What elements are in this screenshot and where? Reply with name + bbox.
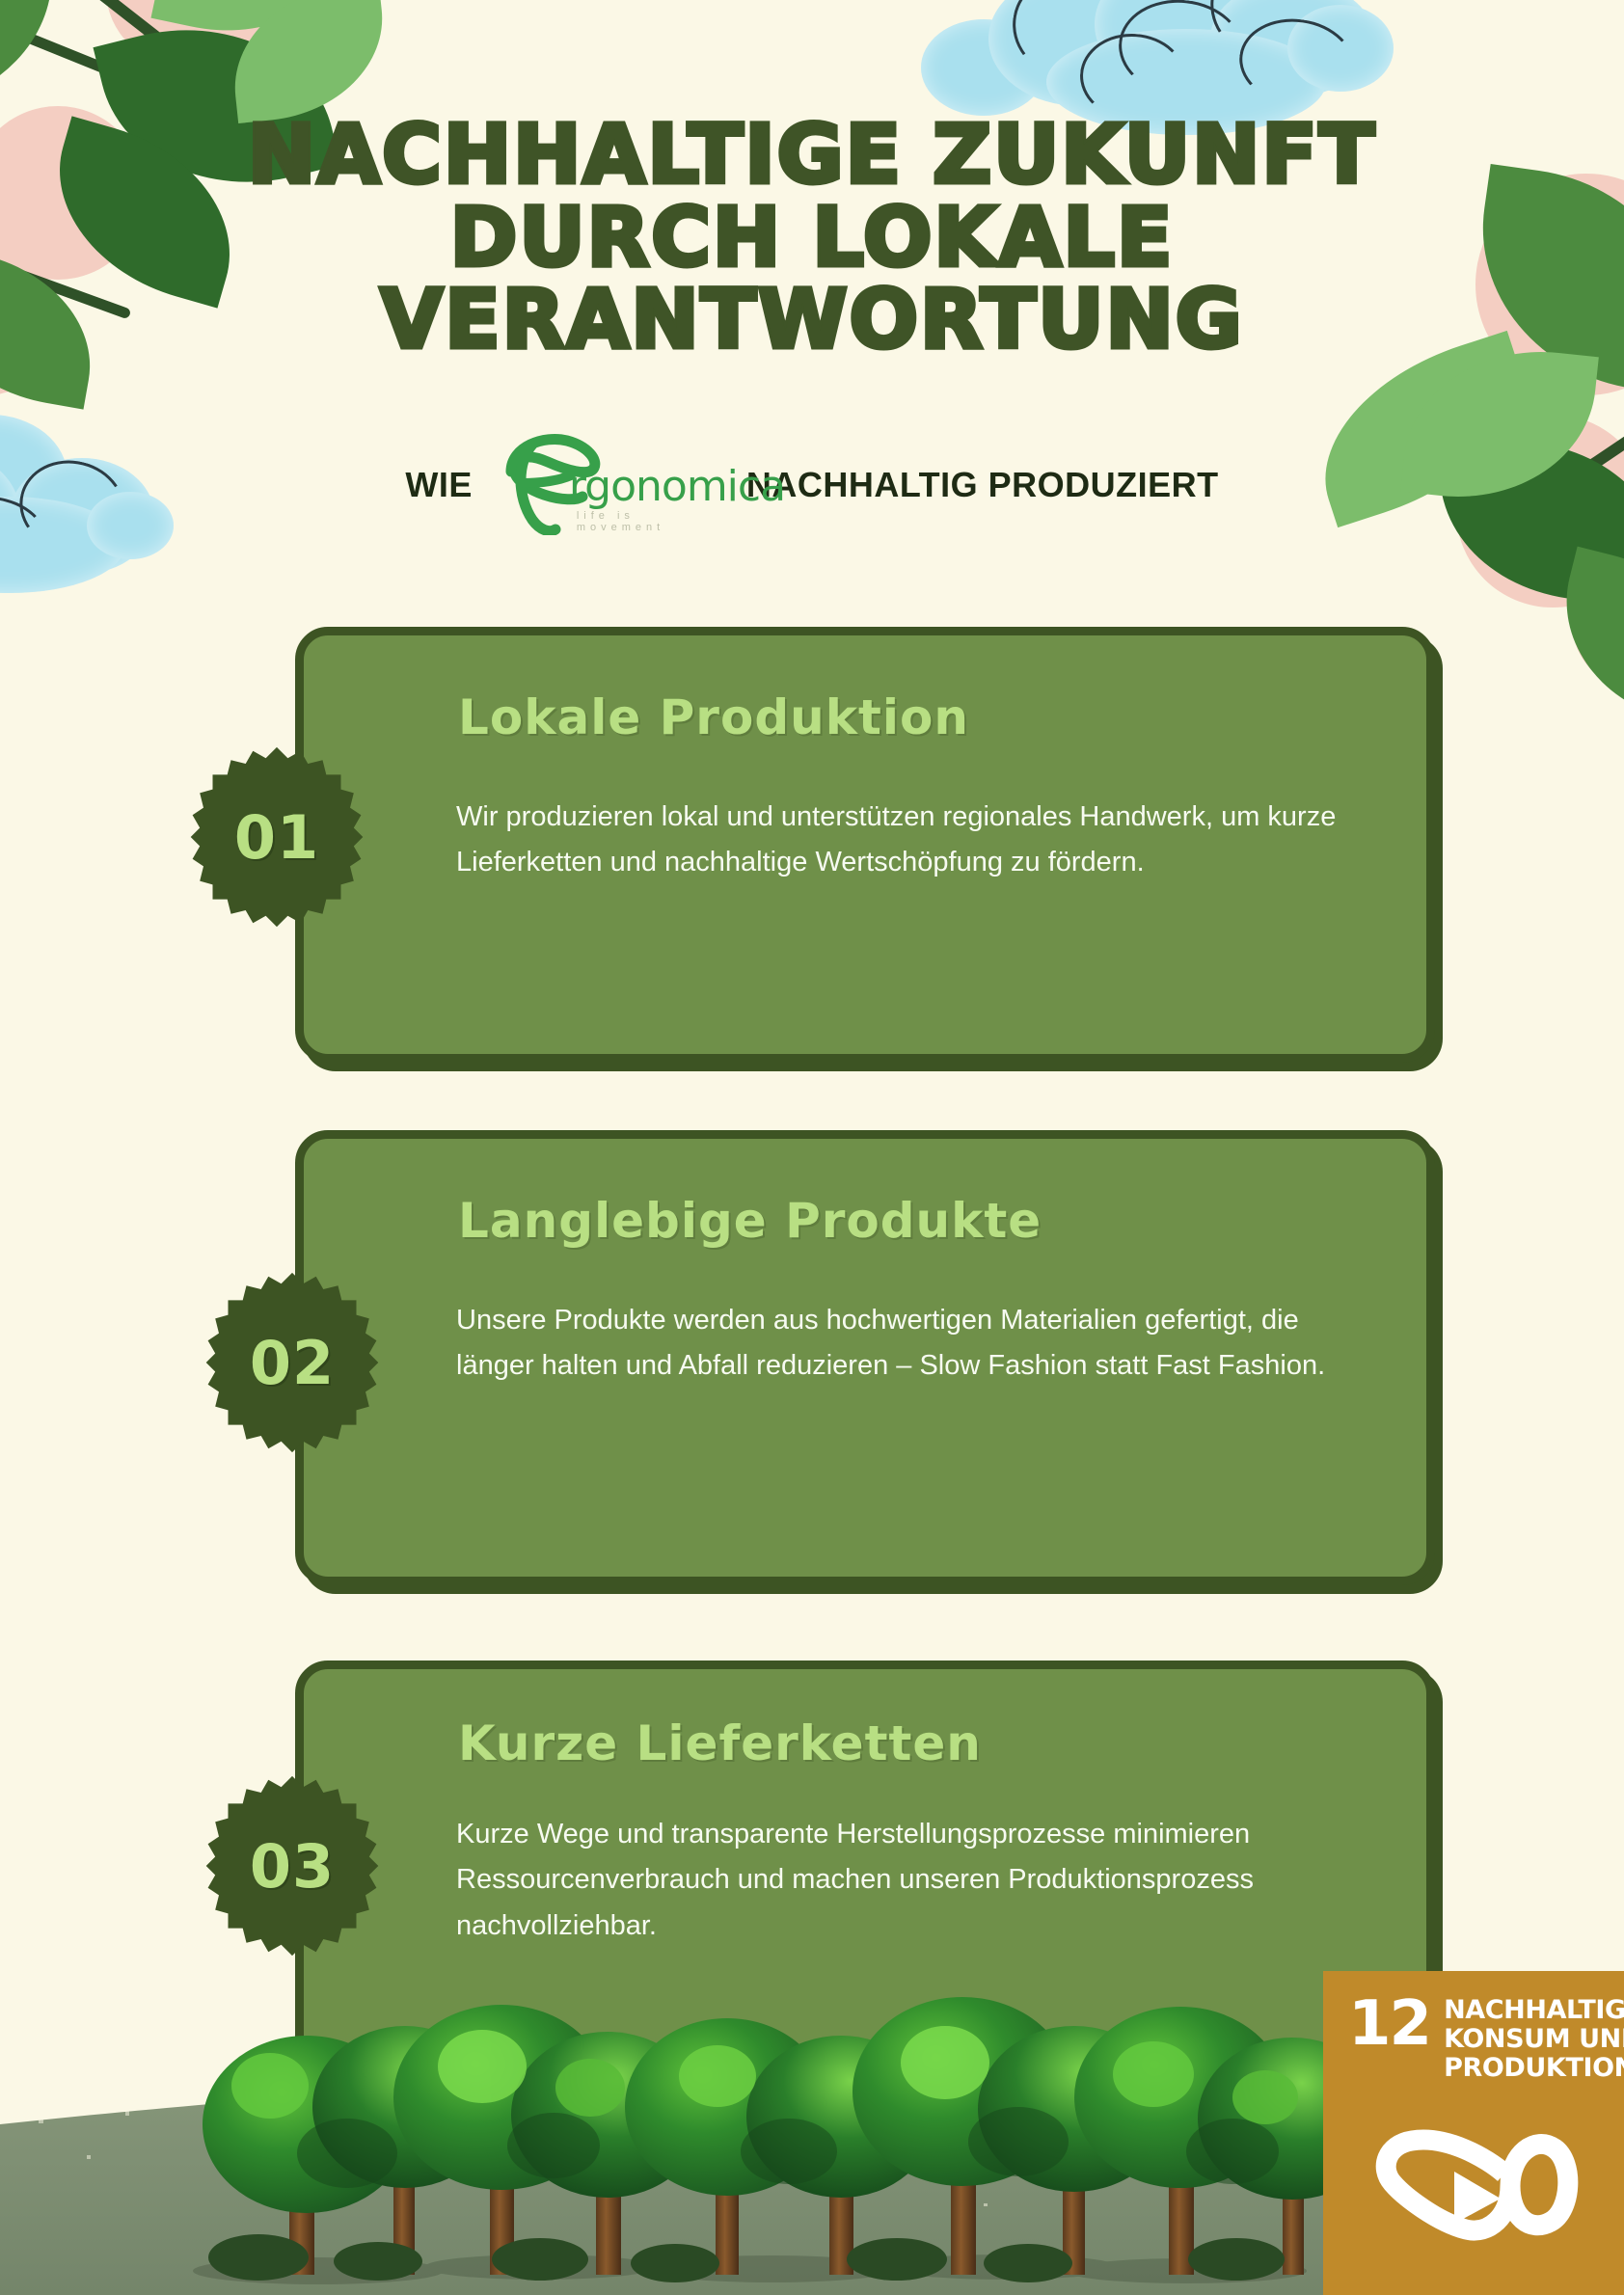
- sdg-label-line-3: PRODUKTION: [1444, 2054, 1624, 2083]
- subtitle-prefix: WIE: [405, 465, 473, 505]
- title-line-1: NACHHALTIGE ZUKUNFT: [0, 114, 1624, 197]
- step-badge-1: 01: [185, 745, 368, 929]
- sdg-number: 12: [1348, 1996, 1430, 2053]
- subtitle-suffix: NACHHALTIG PRODUZIERT: [746, 465, 1219, 505]
- page-title: NACHHALTIGE ZUKUNFT DURCH LOKALE VERANTW…: [0, 114, 1624, 362]
- step-badge-2-number: 02: [250, 1328, 335, 1398]
- logo-tagline: life is movement: [577, 510, 725, 533]
- title-line-2: DURCH LOKALE: [0, 197, 1624, 280]
- logo-wordmark: rgonomica: [569, 462, 785, 511]
- info-card-1: Lokale Produktion Wir produzieren lokal …: [295, 627, 1435, 1063]
- card-1-body: Wir produzieren lokal und unterstützen r…: [456, 795, 1372, 886]
- card-2-body: Unsere Produkte werden aus hochwertigen …: [456, 1298, 1372, 1390]
- step-badge-2: 02: [201, 1271, 384, 1454]
- title-line-3: VERANTWORTUNG: [0, 279, 1624, 362]
- card-3-body: Kurze Wege und transparente Herstellungs…: [456, 1812, 1372, 1949]
- step-badge-3-number: 03: [250, 1831, 335, 1902]
- step-badge-3: 03: [201, 1774, 384, 1957]
- info-card-2: Langlebige Produkte Unsere Produkte werd…: [295, 1130, 1435, 1585]
- card-3-title: Kurze Lieferketten: [458, 1715, 982, 1771]
- sdg-badge: 12 NACHHALTIGE/R KONSUM UND PRODUKTION: [1323, 1971, 1624, 2295]
- card-1-title: Lokale Produktion: [458, 689, 969, 745]
- subtitle-row: WIE rgonomica life is movement NACHHALTI…: [0, 439, 1624, 531]
- sdg-label-line-2: KONSUM UND: [1444, 2025, 1624, 2054]
- step-badge-1-number: 01: [234, 802, 319, 873]
- sdg-badge-header: 12 NACHHALTIGE/R KONSUM UND PRODUKTION: [1348, 1996, 1624, 2084]
- sdg-label-line-1: NACHHALTIGE/R: [1444, 1996, 1624, 2025]
- poster-root: NACHHALTIGE ZUKUNFT DURCH LOKALE VERANTW…: [0, 0, 1624, 2295]
- card-2-title: Langlebige Produkte: [458, 1193, 1042, 1249]
- infinity-loop-arrow-icon: [1366, 2123, 1583, 2249]
- ergonomica-logo: rgonomica life is movement: [494, 439, 725, 531]
- sdg-label: NACHHALTIGE/R KONSUM UND PRODUKTION: [1444, 1996, 1624, 2084]
